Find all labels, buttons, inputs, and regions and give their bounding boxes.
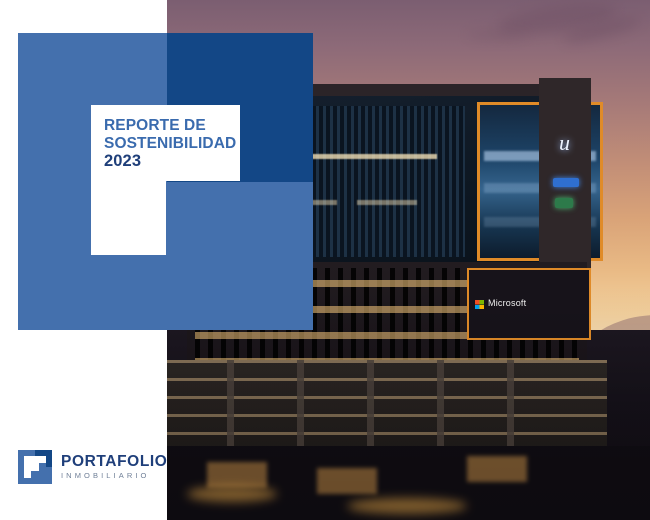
logo-name: PORTAFOLIO	[61, 454, 167, 470]
title-year: 2023	[104, 152, 236, 171]
page-title: REPORTE DE SOSTENIBILIDAD 2023	[104, 117, 236, 171]
script-letter-sign: u	[559, 130, 570, 156]
parking-levels	[167, 360, 607, 450]
logo-tagline: INMOBILIARIO	[61, 471, 167, 481]
street-level	[167, 446, 650, 520]
title-line-1: REPORTE DE	[104, 117, 236, 135]
brand-block-light-blue	[167, 182, 313, 330]
microsoft-logo-icon	[475, 300, 484, 309]
blue-sign	[553, 178, 579, 187]
report-cover: u Microsoft REPORTE	[0, 0, 650, 520]
portafolio-logo-icon	[18, 450, 52, 484]
green-sign	[555, 198, 573, 208]
brand-logo: PORTAFOLIO INMOBILIARIO	[18, 450, 167, 484]
logo-wordmark: PORTAFOLIO INMOBILIARIO	[61, 454, 167, 481]
title-card-leg	[91, 181, 166, 255]
title-line-2: SOSTENIBILIDAD	[104, 135, 236, 153]
cloud	[467, 30, 527, 40]
microsoft-sign-panel	[467, 268, 591, 340]
microsoft-sign-label: Microsoft	[488, 298, 526, 308]
